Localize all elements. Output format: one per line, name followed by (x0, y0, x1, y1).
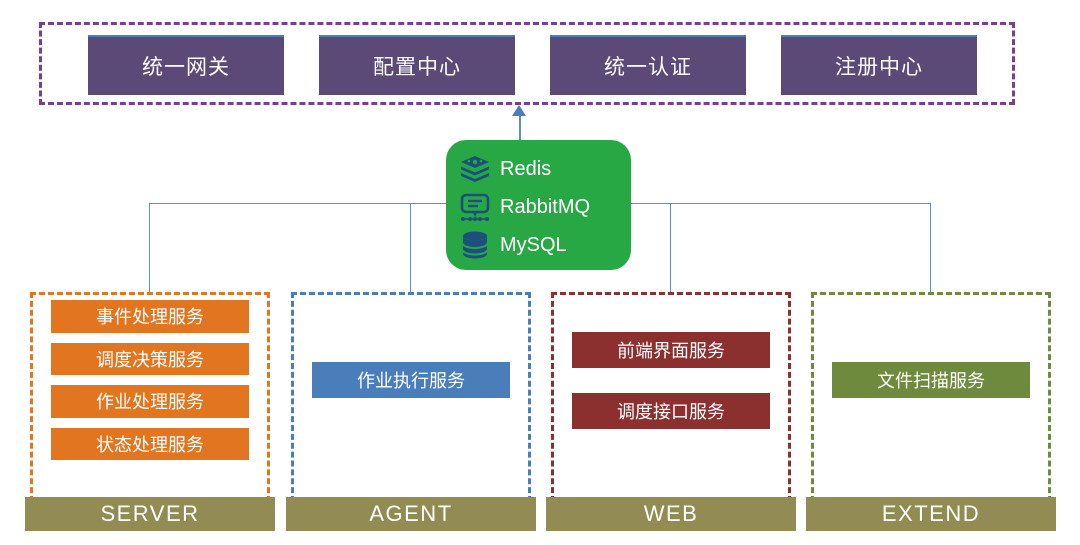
platform-box-config-center[interactable]: 配置中心 (319, 35, 515, 95)
middleware-item-mysql-label: MySQL (500, 234, 567, 257)
service-box-job-execution[interactable]: 作业执行服务 (312, 362, 510, 398)
middleware-item-rabbitmq-label: RabbitMQ (500, 196, 590, 219)
service-box-schedule-api-label: 调度接口服务 (617, 398, 725, 424)
column-extend: 文件扫描服务 (811, 292, 1051, 502)
column-footer-extend-label: EXTEND (882, 501, 980, 527)
connector-stub-agent-top (410, 203, 411, 204)
architecture-diagram: 统一网关 配置中心 统一认证 注册中心 (0, 0, 1080, 545)
platform-box-registry-label: 注册中心 (835, 51, 923, 81)
middleware-item-redis[interactable]: Redis (458, 150, 551, 188)
column-agent: 作业执行服务 (291, 292, 531, 502)
service-box-file-scan-label: 文件扫描服务 (877, 367, 985, 393)
service-box-schedule-api[interactable]: 调度接口服务 (572, 393, 770, 429)
platform-box-auth-label: 统一认证 (604, 51, 692, 81)
platform-box-registry[interactable]: 注册中心 (781, 35, 977, 95)
middleware-item-redis-label: Redis (500, 158, 551, 181)
platform-layer-group: 统一网关 配置中心 统一认证 注册中心 (39, 22, 1015, 105)
service-box-file-scan[interactable]: 文件扫描服务 (832, 362, 1030, 398)
column-web: 前端界面服务 调度接口服务 (551, 292, 791, 502)
column-server: 事件处理服务 调度决策服务 作业处理服务 状态处理服务 (30, 292, 270, 502)
service-box-job-execution-label: 作业执行服务 (357, 367, 465, 393)
middleware-item-rabbitmq[interactable]: RabbitMQ (458, 188, 590, 226)
column-footer-web: WEB (546, 497, 796, 531)
platform-box-gateway-label: 统一网关 (142, 51, 230, 81)
column-server-services: 事件处理服务 调度决策服务 作业处理服务 状态处理服务 (33, 295, 267, 499)
rabbitmq-message-icon (458, 190, 492, 224)
middleware-card[interactable]: Redis (446, 140, 631, 270)
column-extend-services: 文件扫描服务 (814, 295, 1048, 499)
column-agent-services: 作业执行服务 (294, 295, 528, 499)
column-footer-agent: AGENT (286, 497, 536, 531)
service-box-schedule-decision[interactable]: 调度决策服务 (51, 343, 249, 376)
service-box-event-handling-label: 事件处理服务 (96, 303, 204, 329)
column-web-services: 前端界面服务 调度接口服务 (554, 295, 788, 499)
column-footer-agent-label: AGENT (369, 501, 452, 527)
column-footer-server: SERVER (25, 497, 275, 531)
mysql-database-icon (458, 228, 492, 262)
connector-drop-server (149, 203, 150, 293)
redis-layers-icon (458, 152, 492, 186)
middleware-item-mysql[interactable]: MySQL (458, 226, 567, 264)
arrow-up-icon (512, 105, 526, 116)
column-footer-server-label: SERVER (100, 501, 199, 527)
connector-drop-web (670, 203, 671, 293)
service-box-job-handling-label: 作业处理服务 (96, 388, 204, 414)
platform-box-auth[interactable]: 统一认证 (550, 35, 746, 95)
connector-bus-left (149, 203, 447, 204)
platform-box-gateway[interactable]: 统一网关 (88, 35, 284, 95)
connector-drop-agent (410, 203, 411, 293)
service-box-frontend-ui[interactable]: 前端界面服务 (572, 332, 770, 368)
service-box-event-handling[interactable]: 事件处理服务 (51, 300, 249, 333)
service-box-state-handling[interactable]: 状态处理服务 (51, 428, 249, 461)
connector-middleware-to-platform (519, 116, 521, 142)
connector-drop-extend (930, 203, 931, 293)
service-box-schedule-decision-label: 调度决策服务 (96, 346, 204, 372)
service-box-frontend-ui-label: 前端界面服务 (617, 337, 725, 363)
service-box-job-handling[interactable]: 作业处理服务 (51, 385, 249, 418)
column-footer-web-label: WEB (644, 501, 699, 527)
platform-box-config-center-label: 配置中心 (373, 51, 461, 81)
service-box-state-handling-label: 状态处理服务 (96, 431, 204, 457)
column-footer-extend: EXTEND (806, 497, 1056, 531)
connector-bus-right (630, 203, 931, 204)
